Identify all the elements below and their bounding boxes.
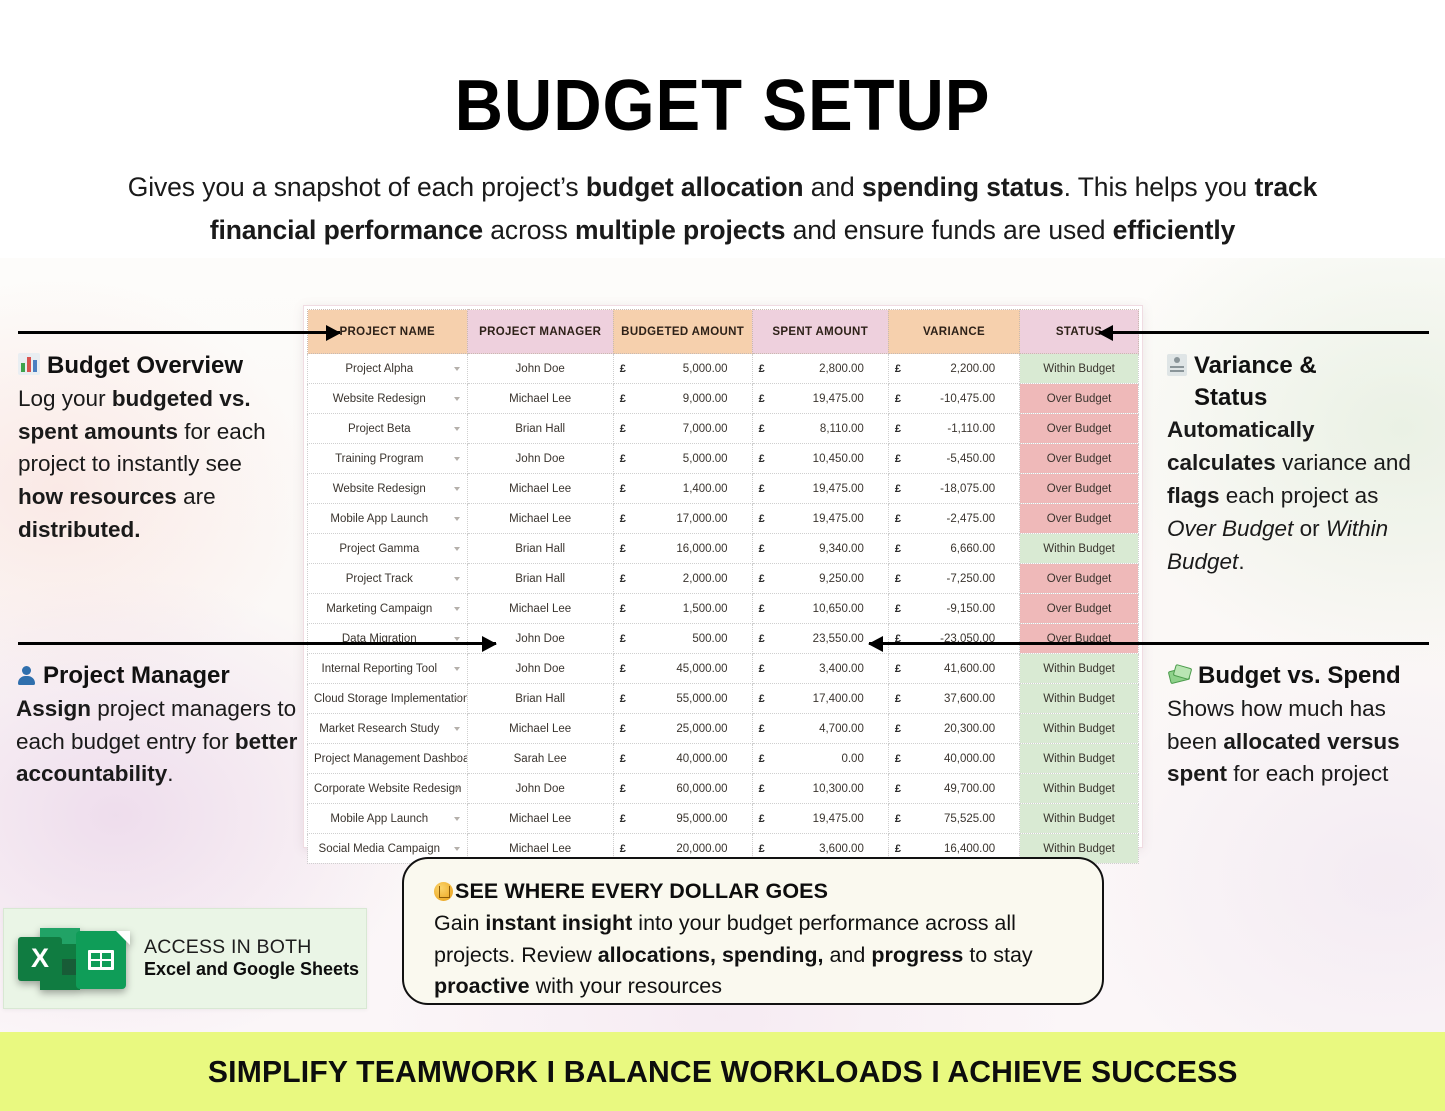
currency-symbol: £	[895, 543, 901, 555]
currency-symbol: £	[759, 813, 765, 825]
cell-variance[interactable]: £20,300.00	[888, 714, 1019, 744]
cell-project-name[interactable]: Marketing Campaign	[308, 594, 468, 624]
cell-budgeted-amount[interactable]: £17,000.00	[613, 504, 752, 534]
cell-spent-amount[interactable]: £2,800.00	[752, 354, 888, 384]
money-icon	[1167, 665, 1191, 685]
bvs-text-2: for each project	[1227, 761, 1388, 786]
status-badge: Over Budget	[1020, 444, 1139, 474]
currency-symbol: £	[759, 783, 765, 795]
cell-project-manager[interactable]: Michael Lee	[467, 474, 613, 504]
cell-budgeted-amount[interactable]: £9,000.00	[613, 384, 752, 414]
cell-project-name[interactable]: Project Beta	[308, 414, 468, 444]
cell-spent-amount[interactable]: £8,110.00	[752, 414, 888, 444]
cell-variance[interactable]: £-2,475.00	[888, 504, 1019, 534]
status-badge: Within Budget	[1020, 654, 1139, 684]
pm-text-2: .	[167, 761, 173, 786]
bo-bold-2: how resources	[18, 484, 177, 509]
cell-project-name[interactable]: Corporate Website Redesign	[308, 774, 468, 804]
currency-symbol: £	[759, 603, 765, 615]
app-logos: X	[18, 928, 130, 990]
table-row[interactable]: Project BetaBrian Hall£7,000.00£8,110.00…	[308, 414, 1139, 444]
currency-symbol: £	[759, 393, 765, 405]
cell-budgeted-amount[interactable]: £7,000.00	[613, 414, 752, 444]
vs-text-3: or	[1293, 516, 1326, 541]
status-badge: Over Budget	[1020, 504, 1139, 534]
currency-symbol: £	[620, 543, 626, 555]
cell-project-name[interactable]: Project Management Dashboard	[308, 744, 468, 774]
annotation-variance-status-body: Automatically calculates variance and fl…	[1167, 414, 1425, 578]
table-body: Project AlphaJohn Doe£5,000.00£2,800.00£…	[308, 354, 1139, 864]
cell-variance[interactable]: £-9,150.00	[888, 594, 1019, 624]
status-badge: Over Budget	[1020, 474, 1139, 504]
chevron-down-icon[interactable]	[454, 367, 460, 371]
co-text-5: with your resources	[530, 974, 722, 998]
chevron-down-icon[interactable]	[454, 577, 460, 581]
annotation-variance-status: Variance &Status Automatically calculate…	[1167, 350, 1425, 579]
cell-spent-amount[interactable]: £9,250.00	[752, 564, 888, 594]
currency-symbol: £	[759, 513, 765, 525]
status-badge: Within Budget	[1020, 744, 1139, 774]
currency-symbol: £	[620, 783, 626, 795]
table-row[interactable]: Project TrackBrian Hall£2,000.00£9,250.0…	[308, 564, 1139, 594]
table-row[interactable]: Market Research StudyMichael Lee£25,000.…	[308, 714, 1139, 744]
pointer-arrow-budget-overview	[18, 331, 340, 334]
cell-variance[interactable]: £2,200.00	[888, 354, 1019, 384]
cell-project-manager[interactable]: John Doe	[467, 654, 613, 684]
currency-symbol: £	[895, 723, 901, 735]
cell-budgeted-amount[interactable]: £40,000.00	[613, 744, 752, 774]
status-badge: Over Budget	[1020, 594, 1139, 624]
cell-budgeted-amount[interactable]: £5,000.00	[613, 354, 752, 384]
currency-symbol: £	[620, 753, 626, 765]
status-badge: Within Budget	[1020, 774, 1139, 804]
access-badge-line1: ACCESS IN BOTH	[144, 937, 359, 959]
cell-spent-amount[interactable]: £4,700.00	[752, 714, 888, 744]
cell-budgeted-amount[interactable]: £1,400.00	[613, 474, 752, 504]
cell-project-name[interactable]: Project Track	[308, 564, 468, 594]
table-row[interactable]: Website RedesignMichael Lee£9,000.00£19,…	[308, 384, 1139, 414]
subtitle-text-2: and	[804, 172, 862, 202]
cell-budgeted-amount[interactable]: £55,000.00	[613, 684, 752, 714]
cell-budgeted-amount[interactable]: £45,000.00	[613, 654, 752, 684]
co-bold-2: allocations, spending,	[598, 943, 824, 967]
currency-symbol: £	[620, 633, 626, 645]
currency-symbol: £	[620, 603, 626, 615]
annotation-variance-status-title: Variance &Status	[1167, 350, 1425, 413]
status-badge: Within Budget	[1020, 714, 1139, 744]
vs-text-2: each project as	[1220, 483, 1379, 508]
table-row[interactable]: Corporate Website RedesignJohn Doe£60,00…	[308, 774, 1139, 804]
annotation-budget-overview-title-text: Budget Overview	[47, 350, 290, 382]
cell-variance[interactable]: £40,000.00	[888, 744, 1019, 774]
table-row[interactable]: Mobile App LaunchMichael Lee£95,000.00£1…	[308, 804, 1139, 834]
subtitle-text-5: and ensure funds are used	[785, 215, 1112, 245]
chevron-down-icon[interactable]	[454, 757, 460, 761]
subtitle-bold-4: multiple projects	[575, 215, 785, 245]
currency-symbol: £	[895, 483, 901, 495]
status-badge: Within Budget	[1020, 354, 1139, 384]
callout-title-text: SEE WHERE EVERY DOLLAR GOES	[455, 879, 828, 904]
page-title: BUDGET SETUP	[51, 70, 1395, 142]
vs-title-l2: Status	[1194, 384, 1267, 411]
table-row[interactable]: Training ProgramJohn Doe£5,000.00£10,450…	[308, 444, 1139, 474]
currency-symbol: £	[759, 483, 765, 495]
table-row[interactable]: Internal Reporting ToolJohn Doe£45,000.0…	[308, 654, 1139, 684]
currency-symbol: £	[895, 513, 901, 525]
callout-title: SEE WHERE EVERY DOLLAR GOES	[434, 879, 1076, 904]
cell-variance[interactable]: £37,600.00	[888, 684, 1019, 714]
bar-chart-icon	[18, 353, 40, 375]
chevron-down-icon[interactable]	[454, 397, 460, 401]
cell-project-name[interactable]: Internal Reporting Tool	[308, 654, 468, 684]
bottom-banner: SIMPLIFY TEAMWORK I BALANCE WORKLOADS I …	[0, 1032, 1445, 1111]
status-badge: Within Budget	[1020, 684, 1139, 714]
currency-symbol: £	[895, 423, 901, 435]
co-bold-1: instant insight	[485, 911, 632, 935]
cell-project-manager[interactable]: Brian Hall	[467, 414, 613, 444]
subtitle-bold-2: spending status	[862, 172, 1064, 202]
currency-symbol: £	[895, 843, 901, 855]
cell-project-name[interactable]: Mobile App Launch	[308, 804, 468, 834]
co-bold-3: progress	[871, 943, 963, 967]
callout-box: SEE WHERE EVERY DOLLAR GOES Gain instant…	[402, 857, 1104, 1005]
chevron-down-icon[interactable]	[454, 727, 460, 731]
cell-project-manager[interactable]: Michael Lee	[467, 384, 613, 414]
chevron-down-icon[interactable]	[454, 457, 460, 461]
cell-budgeted-amount[interactable]: £2,000.00	[613, 564, 752, 594]
coin-icon	[434, 882, 453, 901]
annotation-budget-vs-spend-body: Shows how much has been allocated versus…	[1167, 693, 1429, 792]
table-row[interactable]: Data MigrationJohn Doe£500.00£23,550.00£…	[308, 624, 1139, 654]
annotation-budget-vs-spend-title-text: Budget vs. Spend	[1198, 660, 1429, 692]
cell-project-manager[interactable]: Michael Lee	[467, 504, 613, 534]
cell-project-manager[interactable]: John Doe	[467, 354, 613, 384]
table-row[interactable]: Project AlphaJohn Doe£5,000.00£2,800.00£…	[308, 354, 1139, 384]
cell-spent-amount[interactable]: £10,650.00	[752, 594, 888, 624]
chevron-down-icon[interactable]	[454, 487, 460, 491]
page-subtitle: Gives you a snapshot of each project’s b…	[0, 166, 1445, 252]
cell-variance[interactable]: £6,660.00	[888, 534, 1019, 564]
cell-budgeted-amount[interactable]: £25,000.00	[613, 714, 752, 744]
cell-project-manager[interactable]: Brian Hall	[467, 534, 613, 564]
callout-body: Gain instant insight into your budget pe…	[434, 908, 1076, 1003]
page-header: BUDGET SETUP Gives you a snapshot of eac…	[0, 0, 1445, 258]
currency-symbol: £	[620, 363, 626, 375]
annotation-project-manager-body: Assign project managers to each budget e…	[16, 693, 298, 792]
cell-spent-amount[interactable]: £9,340.00	[752, 534, 888, 564]
currency-symbol: £	[620, 663, 626, 675]
cell-project-name[interactable]: Website Redesign	[308, 474, 468, 504]
cell-budgeted-amount[interactable]: £500.00	[613, 624, 752, 654]
cell-variance[interactable]: £75,525.00	[888, 804, 1019, 834]
status-badge: Over Budget	[1020, 384, 1139, 414]
currency-symbol: £	[759, 843, 765, 855]
person-icon	[16, 664, 36, 686]
status-badge: Within Budget	[1020, 804, 1139, 834]
currency-symbol: £	[620, 483, 626, 495]
annotation-budget-vs-spend-title: Budget vs. Spend	[1167, 660, 1429, 692]
annotation-budget-overview-body: Log your budgeted vs. spent amounts for …	[18, 383, 290, 547]
chevron-down-icon[interactable]	[454, 787, 460, 791]
annotation-budget-overview-title: Budget Overview	[18, 350, 290, 382]
table-row[interactable]: Mobile App LaunchMichael Lee£17,000.00£1…	[308, 504, 1139, 534]
annotation-project-manager: Project Manager Assign project managers …	[16, 660, 298, 791]
cell-spent-amount[interactable]: £3,400.00	[752, 654, 888, 684]
chevron-down-icon[interactable]	[454, 697, 460, 701]
table-row[interactable]: Project Management DashboardSarah Lee£40…	[308, 744, 1139, 774]
chevron-down-icon[interactable]	[454, 547, 460, 551]
status-badge: Over Budget	[1020, 414, 1139, 444]
subtitle-text-4: across	[483, 215, 575, 245]
pointer-arrow-variance-status	[1099, 331, 1429, 334]
currency-symbol: £	[759, 363, 765, 375]
cell-project-name[interactable]: Data Migration	[308, 624, 468, 654]
currency-symbol: £	[895, 363, 901, 375]
cell-spent-amount[interactable]: £10,300.00	[752, 774, 888, 804]
currency-symbol: £	[895, 393, 901, 405]
pointer-arrow-project-manager	[18, 642, 496, 645]
cell-project-name[interactable]: Mobile App Launch	[308, 504, 468, 534]
currency-symbol: £	[759, 753, 765, 765]
currency-symbol: £	[759, 573, 765, 585]
col-header-project-manager[interactable]: PROJECT MANAGER	[467, 310, 613, 354]
subtitle-text-3: . This helps you	[1064, 172, 1255, 202]
col-header-spent-amount[interactable]: SPENT AMOUNT	[752, 310, 888, 354]
chevron-down-icon[interactable]	[454, 637, 460, 641]
currency-symbol: £	[895, 693, 901, 705]
currency-symbol: £	[620, 573, 626, 585]
currency-symbol: £	[759, 543, 765, 555]
currency-symbol: £	[759, 723, 765, 735]
co-bold-4: proactive	[434, 974, 530, 998]
currency-symbol: £	[620, 423, 626, 435]
cell-budgeted-amount[interactable]: £95,000.00	[613, 804, 752, 834]
table-row[interactable]: Website RedesignMichael Lee£1,400.00£19,…	[308, 474, 1139, 504]
excel-icon: X	[18, 928, 80, 990]
cell-variance[interactable]: £-10,475.00	[888, 384, 1019, 414]
currency-symbol: £	[895, 453, 901, 465]
cell-spent-amount[interactable]: £19,475.00	[752, 474, 888, 504]
cell-variance[interactable]: £49,700.00	[888, 774, 1019, 804]
cell-spent-amount[interactable]: £0.00	[752, 744, 888, 774]
table-row[interactable]: Project GammaBrian Hall£16,000.00£9,340.…	[308, 534, 1139, 564]
cell-variance[interactable]: £-7,250.00	[888, 564, 1019, 594]
status-badge: Over Budget	[1020, 624, 1139, 654]
table-header-row: PROJECT NAME PROJECT MANAGER BUDGETED AM…	[308, 310, 1139, 354]
cell-project-name[interactable]: Cloud Storage Implementation	[308, 684, 468, 714]
cell-project-name[interactable]: Project Gamma	[308, 534, 468, 564]
cell-project-manager[interactable]: John Doe	[467, 774, 613, 804]
currency-symbol: £	[620, 453, 626, 465]
cell-project-manager[interactable]: Sarah Lee	[467, 744, 613, 774]
vs-italic-1: Over Budget	[1167, 516, 1293, 541]
currency-symbol: £	[620, 393, 626, 405]
pointer-arrow-budget-vs-spend	[869, 642, 1429, 645]
cell-spent-amount[interactable]: £19,475.00	[752, 504, 888, 534]
cell-project-manager[interactable]: Michael Lee	[467, 714, 613, 744]
currency-symbol: £	[759, 423, 765, 435]
cell-budgeted-amount[interactable]: £60,000.00	[613, 774, 752, 804]
table-row[interactable]: Cloud Storage ImplementationBrian Hall£5…	[308, 684, 1139, 714]
annotation-variance-status-title-text: Variance &Status	[1194, 350, 1425, 413]
currency-symbol: £	[759, 693, 765, 705]
vs-bold-2: flags	[1167, 483, 1220, 508]
status-badge: Over Budget	[1020, 564, 1139, 594]
cell-budgeted-amount[interactable]: £5,000.00	[613, 444, 752, 474]
currency-symbol: £	[620, 813, 626, 825]
pm-bold-1: Assign	[16, 696, 91, 721]
cell-project-name[interactable]: Training Program	[308, 444, 468, 474]
chevron-down-icon[interactable]	[454, 427, 460, 431]
bottom-banner-text: SIMPLIFY TEAMWORK I BALANCE WORKLOADS I …	[208, 1054, 1238, 1090]
currency-symbol: £	[895, 783, 901, 795]
currency-symbol: £	[620, 513, 626, 525]
cell-variance[interactable]: £-23,050.00	[888, 624, 1019, 654]
chevron-down-icon[interactable]	[454, 607, 460, 611]
currency-symbol: £	[759, 453, 765, 465]
cell-project-manager[interactable]: John Doe	[467, 444, 613, 474]
cell-variance[interactable]: £-5,450.00	[888, 444, 1019, 474]
access-badge: X ACCESS IN BOTH Excel and Google Sheets	[3, 908, 367, 1009]
cell-project-manager[interactable]: Brian Hall	[467, 564, 613, 594]
budget-table: PROJECT NAME PROJECT MANAGER BUDGETED AM…	[307, 309, 1139, 864]
currency-symbol: £	[895, 603, 901, 615]
cell-variance[interactable]: £41,600.00	[888, 654, 1019, 684]
col-header-budgeted-amount[interactable]: BUDGETED AMOUNT	[613, 310, 752, 354]
bo-text-1: Log your	[18, 386, 112, 411]
cell-budgeted-amount[interactable]: £1,500.00	[613, 594, 752, 624]
co-text-3: and	[824, 943, 872, 967]
currency-symbol: £	[620, 693, 626, 705]
cell-spent-amount[interactable]: £19,475.00	[752, 804, 888, 834]
status-badge: Within Budget	[1020, 534, 1139, 564]
cell-spent-amount[interactable]: £17,400.00	[752, 684, 888, 714]
annotation-budget-overview: Budget Overview Log your budgeted vs. sp…	[18, 350, 290, 547]
receipt-icon	[1167, 354, 1187, 376]
subtitle-bold-1: budget allocation	[586, 172, 804, 202]
currency-symbol: £	[895, 753, 901, 765]
currency-symbol: £	[759, 633, 765, 645]
co-text-4: to stay	[963, 943, 1032, 967]
cell-project-manager[interactable]: Michael Lee	[467, 594, 613, 624]
annotation-budget-vs-spend: Budget vs. Spend Shows how much has been…	[1167, 660, 1429, 791]
cell-project-name[interactable]: Website Redesign	[308, 384, 468, 414]
cell-spent-amount[interactable]: £10,450.00	[752, 444, 888, 474]
excel-icon-letter: X	[18, 937, 62, 981]
currency-symbol: £	[895, 573, 901, 585]
chevron-down-icon[interactable]	[454, 517, 460, 521]
vs-text-4: .	[1238, 549, 1244, 574]
col-header-variance[interactable]: VARIANCE	[888, 310, 1019, 354]
cell-project-name[interactable]: Project Alpha	[308, 354, 468, 384]
vs-title-l1: Variance &	[1194, 352, 1317, 379]
annotation-project-manager-title: Project Manager	[16, 660, 298, 692]
chevron-down-icon[interactable]	[454, 847, 460, 851]
currency-symbol: £	[620, 723, 626, 735]
subtitle-bold-5: efficiently	[1113, 215, 1236, 245]
access-badge-line2: Excel and Google Sheets	[144, 959, 359, 981]
cell-project-name[interactable]: Market Research Study	[308, 714, 468, 744]
currency-symbol: £	[895, 813, 901, 825]
access-badge-text: ACCESS IN BOTH Excel and Google Sheets	[144, 937, 359, 980]
subtitle-text-1: Gives you a snapshot of each project’s	[128, 172, 586, 202]
annotation-project-manager-title-text: Project Manager	[43, 660, 298, 692]
bo-bold-3: distributed.	[18, 517, 141, 542]
co-text-1: Gain	[434, 911, 485, 935]
currency-symbol: £	[759, 663, 765, 675]
currency-symbol: £	[620, 843, 626, 855]
vs-text-1: variance and	[1276, 450, 1411, 475]
chevron-down-icon[interactable]	[454, 817, 460, 821]
budget-table-card: PROJECT NAME PROJECT MANAGER BUDGETED AM…	[303, 305, 1143, 848]
bo-text-3: are	[177, 484, 216, 509]
cell-variance[interactable]: £-1,110.00	[888, 414, 1019, 444]
currency-symbol: £	[895, 663, 901, 675]
cell-variance[interactable]: £-18,075.00	[888, 474, 1019, 504]
cell-project-manager[interactable]: Brian Hall	[467, 684, 613, 714]
chevron-down-icon[interactable]	[454, 667, 460, 671]
google-sheets-icon	[76, 928, 130, 990]
cell-project-manager[interactable]: Michael Lee	[467, 804, 613, 834]
cell-budgeted-amount[interactable]: £16,000.00	[613, 534, 752, 564]
cell-spent-amount[interactable]: £19,475.00	[752, 384, 888, 414]
table-row[interactable]: Marketing CampaignMichael Lee£1,500.00£1…	[308, 594, 1139, 624]
